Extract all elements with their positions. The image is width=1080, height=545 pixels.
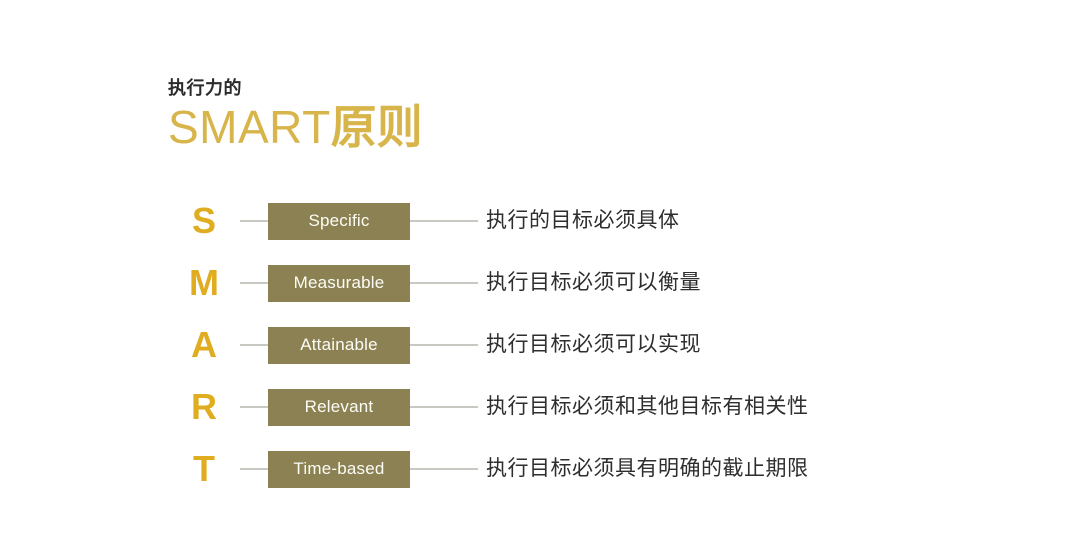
smart-row: A Attainable 执行目标必须可以实现: [168, 314, 1028, 376]
connector-right-line: [410, 220, 478, 222]
connector-left-line: [240, 406, 268, 408]
connector-right-line: [410, 282, 478, 284]
row-description: 执行目标必须具有明确的截止期限: [478, 456, 1028, 481]
page-title-cjk: 原则: [331, 101, 423, 153]
row-letter: A: [168, 327, 240, 363]
connector-right-line: [410, 468, 478, 470]
row-letter: S: [168, 203, 240, 239]
connector-left-line: [240, 282, 268, 284]
connector-left-line: [240, 344, 268, 346]
connector-right-line: [410, 406, 478, 408]
smart-row: M Measurable 执行目标必须可以衡量: [168, 252, 1028, 314]
term-box: Relevant: [268, 389, 410, 426]
term-box: Specific: [268, 203, 410, 240]
term-box: Attainable: [268, 327, 410, 364]
slide-canvas: 执行力的 SMART原则 S Specific 执行的目标必须具体 M Meas…: [0, 0, 1080, 545]
row-description: 执行目标必须可以衡量: [478, 270, 1028, 295]
kicker-text: 执行力的: [168, 78, 423, 100]
connector-right-line: [410, 344, 478, 346]
heading-block: 执行力的 SMART原则: [168, 78, 423, 153]
page-title: SMART原则: [168, 102, 423, 154]
term-box: Time-based: [268, 451, 410, 488]
row-letter: T: [168, 451, 240, 487]
row-description: 执行目标必须和其他目标有相关性: [478, 394, 1028, 419]
connector-left-line: [240, 220, 268, 222]
row-letter: R: [168, 389, 240, 425]
page-title-latin: SMART: [168, 101, 331, 153]
term-box: Measurable: [268, 265, 410, 302]
smart-row: R Relevant 执行目标必须和其他目标有相关性: [168, 376, 1028, 438]
row-description: 执行的目标必须具体: [478, 208, 1028, 233]
smart-row: T Time-based 执行目标必须具有明确的截止期限: [168, 438, 1028, 500]
smart-row: S Specific 执行的目标必须具体: [168, 190, 1028, 252]
smart-rows: S Specific 执行的目标必须具体 M Measurable 执行目标必须…: [168, 190, 1028, 500]
connector-left-line: [240, 468, 268, 470]
row-description: 执行目标必须可以实现: [478, 332, 1028, 357]
row-letter: M: [168, 265, 240, 301]
